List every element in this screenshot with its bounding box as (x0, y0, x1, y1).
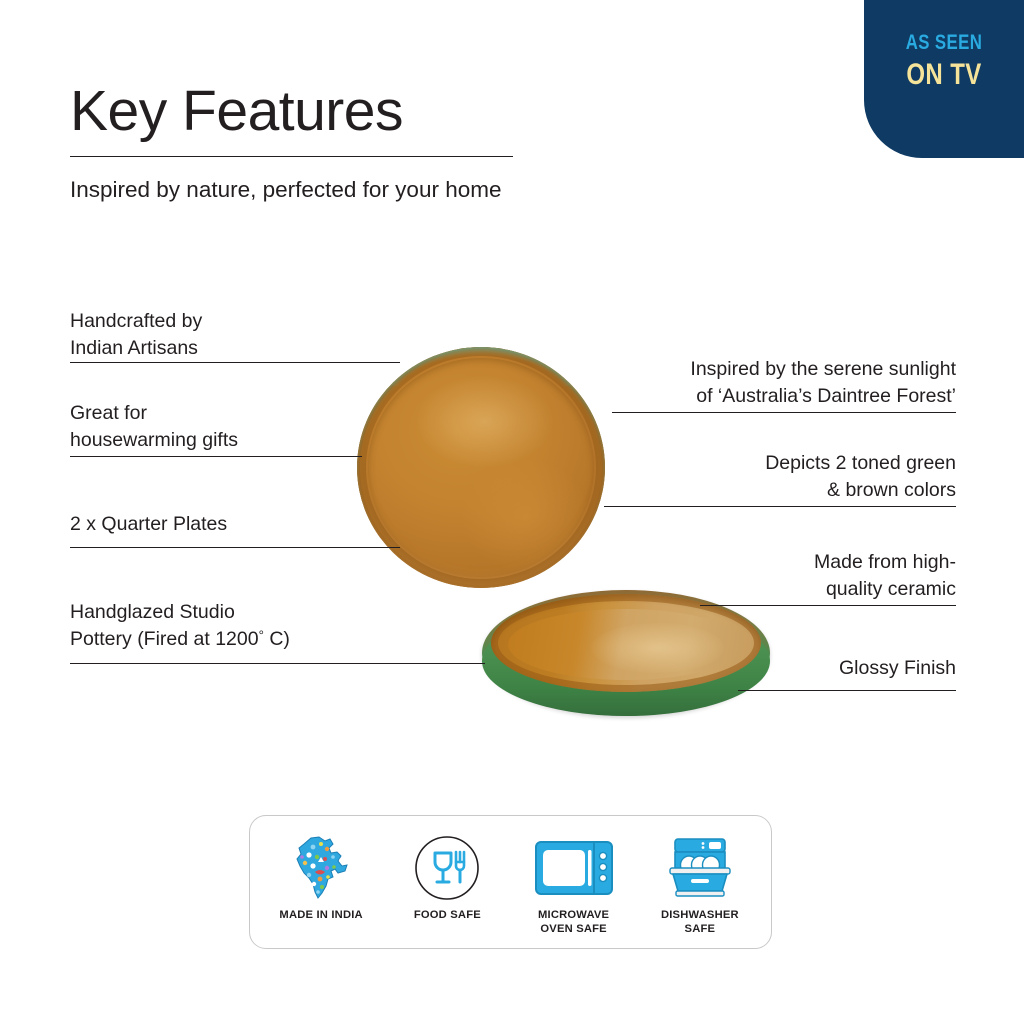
feature-label-housewarming: Great for housewarming gifts (70, 400, 390, 453)
infographic-page: AS SEEN ON TV Key Features Inspired by n… (0, 0, 1024, 1024)
food-safe-icon (386, 832, 508, 904)
feature-rule-glossy (738, 690, 956, 691)
product-plate-angled-view (482, 590, 770, 716)
feature-rule-daintree (612, 412, 956, 413)
page-title: Key Features (70, 82, 520, 142)
feature-label-ceramic: Made from high- quality ceramic (576, 549, 956, 602)
dishwasher-icon (639, 832, 761, 904)
header: Key Features Inspired by nature, perfect… (70, 82, 520, 206)
feature-label-handglazed-text: Handglazed Studio Pottery (Fired at 1200 (70, 601, 259, 650)
badge-dishwasher-safe: DISHWASHER SAFE (639, 832, 761, 936)
certification-strip: MADE IN INDIA FOOD SAFE (249, 815, 772, 949)
as-seen-on-tv-line2: ON TV (880, 56, 1008, 94)
feature-rule-ceramic (700, 605, 956, 606)
feature-rule-handglazed (70, 663, 485, 664)
badge-microwave-safe: MICROWAVE OVEN SAFE (513, 832, 635, 936)
as-seen-on-tv-line1: AS SEEN (880, 30, 1008, 56)
badge-caption-dishwasher-safe: DISHWASHER SAFE (639, 908, 761, 936)
microwave-icon (513, 832, 635, 904)
feature-rule-housewarming (70, 456, 362, 457)
badge-made-in-india: MADE IN INDIA (260, 832, 382, 922)
feature-rule-handcrafted (70, 362, 400, 363)
badge-caption-microwave-safe: MICROWAVE OVEN SAFE (513, 908, 635, 936)
badge-caption-food-safe: FOOD SAFE (386, 908, 508, 922)
feature-label-daintree: Inspired by the serene sunlight of ‘Aust… (556, 356, 956, 409)
badge-food-safe: FOOD SAFE (386, 832, 508, 922)
subtitle: Inspired by nature, perfected for your h… (70, 173, 520, 206)
feature-label-handglazed-suffix: C) (264, 628, 290, 650)
as-seen-on-tv-badge: AS SEEN ON TV (864, 0, 1024, 158)
feature-label-two-toned: Depicts 2 toned green & brown colors (576, 450, 956, 503)
feature-label-handcrafted: Handcrafted by Indian Artisans (70, 308, 370, 361)
feature-rule-quarter-plates (70, 547, 400, 548)
badge-caption-made-in-india: MADE IN INDIA (260, 908, 382, 922)
feature-label-quarter-plates: 2 x Quarter Plates (70, 511, 400, 538)
feature-label-handglazed: Handglazed Studio Pottery (Fired at 1200… (70, 599, 410, 652)
title-divider (70, 156, 513, 157)
feature-rule-two-toned (604, 506, 956, 507)
india-map-icon (260, 832, 382, 904)
feature-label-glossy: Glossy Finish (576, 655, 956, 682)
